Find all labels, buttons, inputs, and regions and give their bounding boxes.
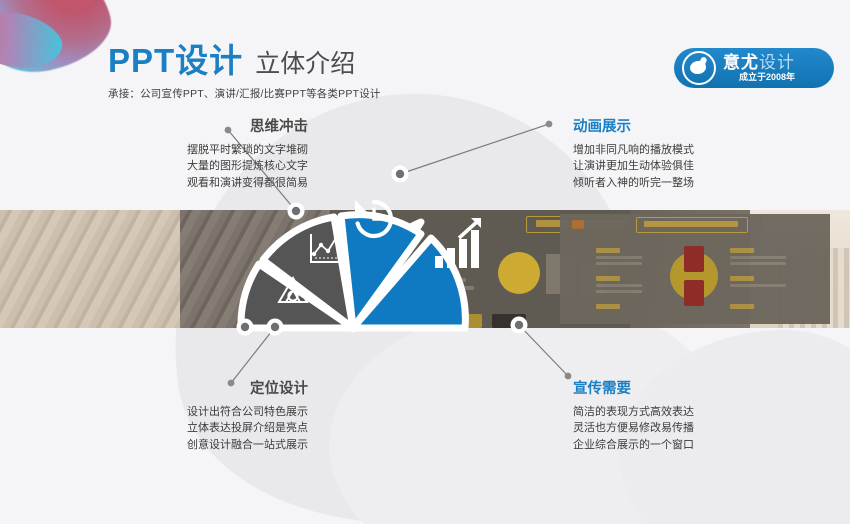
logo-name-bold: 意尤 xyxy=(723,53,759,72)
callout-line: 倾听者入神的听完一整场 xyxy=(573,175,803,192)
fan-wedges xyxy=(241,215,465,328)
callout-line: 让演讲更加生动体验俱佳 xyxy=(573,158,803,175)
title-description: 承接：公司宣传PPT、演讲/汇报/比赛PPT等各类PPT设计 xyxy=(108,86,381,101)
fan-node-bottom-right-dot xyxy=(515,321,523,329)
callout-bottom-left: 定位设计 设计出符合公司特色展示 立体表达投屏介绍是亮点 创意设计融合一站式展示 xyxy=(82,382,308,454)
bar-chart-arrow-icon xyxy=(435,218,481,268)
callout-line: 摆脱平时繁琐的文字堆砌 xyxy=(86,142,308,159)
callout-title: 定位设计 xyxy=(82,382,308,397)
callout-line: 大量的图形提炼核心文字 xyxy=(86,158,308,175)
photo-wood-light xyxy=(0,210,180,328)
title-sub: 立体介绍 xyxy=(255,52,355,77)
callout-line: 灵活也方便易修改易传播 xyxy=(573,420,803,437)
fan-node-top-right-dot xyxy=(396,170,404,178)
callout-line: 企业综合展示的一个窗口 xyxy=(573,437,803,454)
callout-title: 动画展示 xyxy=(573,120,803,135)
fan-node-inner-left-dot xyxy=(271,323,279,331)
title-main: PPT设计 xyxy=(108,44,243,77)
page-title: PPT设计 立体介绍 承接：公司宣传PPT、演讲/汇报/比赛PPT等各类PPT设… xyxy=(108,44,381,101)
callout-line: 创意设计融合一站式展示 xyxy=(82,437,308,454)
brand-logo[interactable]: 意尤设计 成立于2008年 xyxy=(674,48,834,88)
callout-line: 设计出符合公司特色展示 xyxy=(82,404,308,421)
callout-bottom-right: 宣传需要 简洁的表现方式高效表达 灵活也方便易修改易传播 企业综合展示的一个窗口 xyxy=(573,382,803,454)
callout-top-right: 动画展示 增加非同凡响的播放模式 让演讲更加生动体验俱佳 倾听者入神的听完一整场 xyxy=(573,120,803,192)
logo-tagline: 成立于2008年 xyxy=(723,73,795,82)
callout-title: 宣传需要 xyxy=(573,382,803,397)
callout-top-left: 思维冲击 摆脱平时繁琐的文字堆砌 大量的图形提炼核心文字 观看和演讲变得都很简易 xyxy=(86,120,308,192)
slide-canvas: PPT设计 立体介绍 承接：公司宣传PPT、演讲/汇报/比赛PPT等各类PPT设… xyxy=(0,0,850,524)
fan-node-bottom-left-dot xyxy=(241,323,249,331)
callout-title: 思维冲击 xyxy=(86,120,308,135)
callout-line: 增加非同凡响的播放模式 xyxy=(573,142,803,159)
callout-line: 观看和演讲变得都很简易 xyxy=(86,175,308,192)
callout-line: 立体表达投屏介绍是亮点 xyxy=(82,420,308,437)
mouse-icon xyxy=(682,51,716,85)
logo-name-light: 设计 xyxy=(759,53,795,72)
callout-line: 简洁的表现方式高效表达 xyxy=(573,404,803,421)
fan-node-top-left-dot xyxy=(292,207,300,215)
